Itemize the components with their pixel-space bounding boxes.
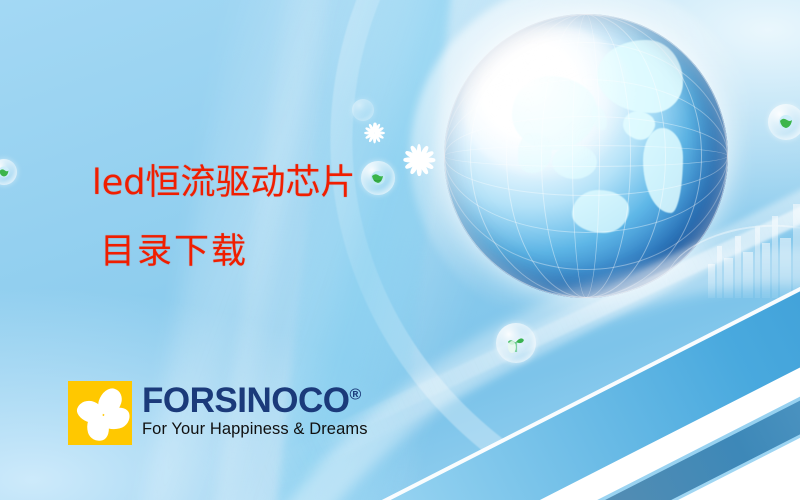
globe-specular-highlight: [461, 25, 637, 178]
landmass-north-america: [597, 40, 682, 114]
parallel-line: [444, 116, 728, 196]
logo-tagline: For Your Happiness & Dreams: [142, 420, 368, 439]
logo-company-name: FORSINOCO®: [142, 383, 368, 419]
promo-banner: led恒流驱动芯片 目录下载 FORSINOCO® For Your Happi…: [0, 0, 800, 500]
meridian-line: [541, 14, 632, 298]
green-globe-icon: [369, 169, 387, 187]
headline-block: led恒流驱动芯片 目录下载: [92, 166, 355, 270]
landmass-asia: [512, 76, 597, 150]
bubble-green-globe: [361, 161, 395, 195]
landmass-south-america: [643, 128, 683, 213]
globe-glow: [410, 0, 762, 332]
meridian-line: [572, 14, 600, 298]
white-asterisk-large: [402, 143, 436, 177]
building: [743, 252, 753, 298]
landmass-australia: [572, 190, 629, 233]
white-asterisk-small: [364, 122, 386, 144]
building: [780, 238, 791, 298]
landmass-japan: [588, 103, 610, 132]
meridian-line: [470, 14, 703, 298]
building: [724, 258, 733, 298]
green-globe-icon: [777, 113, 795, 131]
parallel-line: [444, 145, 728, 168]
parallel-line: [444, 79, 728, 232]
bubble-faint-topleft: [352, 99, 374, 121]
landmass-central-america: [618, 105, 659, 145]
landmass-india: [518, 133, 552, 173]
building: [762, 243, 770, 298]
registered-trademark-icon: ®: [349, 386, 360, 403]
green-globe-icon: [0, 165, 11, 179]
meridian-line: [506, 14, 665, 298]
headline-line-2: 目录下载: [100, 235, 355, 270]
parallel-line: [444, 42, 728, 269]
logo-text-block: FORSINOCO® For Your Happiness & Dreams: [142, 383, 368, 439]
landmass-southeast-asia: [552, 145, 597, 179]
bubble-edge-right: [768, 104, 800, 140]
bubble-edge-left: [0, 159, 17, 185]
logo-flower-mark-icon: [68, 381, 132, 445]
brand-logo[interactable]: FORSINOCO® For Your Happiness & Dreams: [68, 381, 368, 445]
logo-company-name-text: FORSINOCO: [142, 381, 349, 420]
headline-line-1: led恒流驱动芯片: [92, 166, 355, 201]
